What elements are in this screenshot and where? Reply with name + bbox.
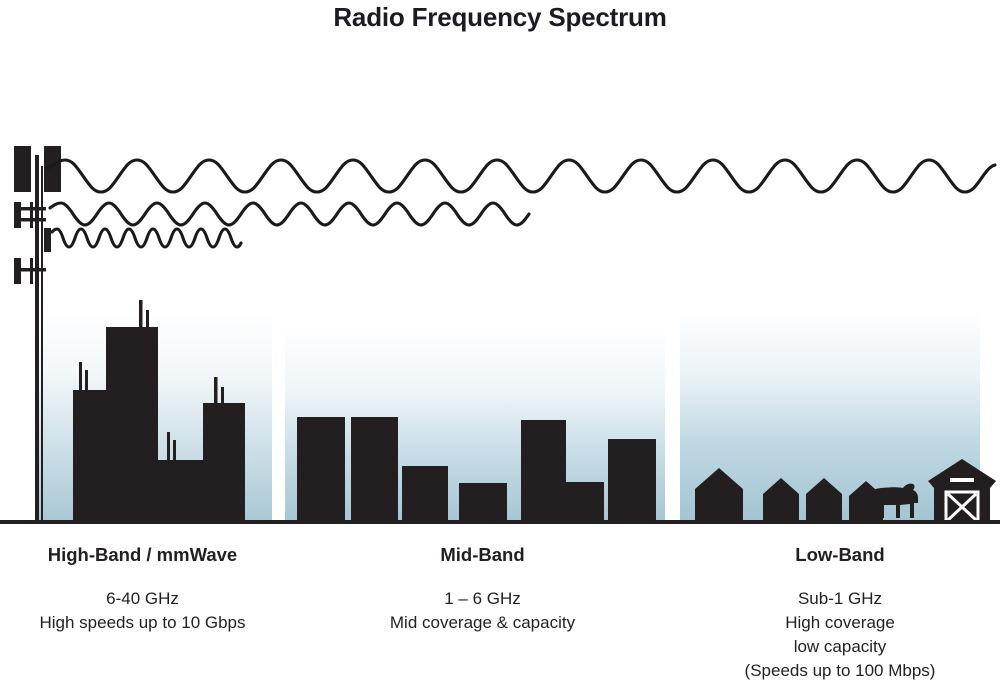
band-detail-high-band-frequency: 6-40 GHz (0, 587, 285, 611)
band-detail-low-band-frequency: Sub-1 GHz (680, 587, 1000, 611)
band-title-high-band: High-Band / mmWave (0, 546, 285, 565)
band-column-low-band: Low-Band Sub-1 GHz High coverage low cap… (680, 546, 1000, 683)
band-detail-high-band-speed: High speeds up to 10 Gbps (0, 611, 285, 635)
band-title-low-band: Low-Band (680, 546, 1000, 565)
band-column-high-band: High-Band / mmWave 6-40 GHz High speeds … (0, 546, 285, 635)
spectrum-scene (0, 0, 1000, 540)
band-detail-low-band-capacity: low capacity (680, 635, 1000, 659)
ground-line (0, 520, 1000, 524)
radio-wave-short-icon (52, 229, 241, 247)
radio-wave-long-icon (47, 160, 995, 192)
radio-wave-medium-icon (50, 203, 529, 225)
band-detail-mid-band-coverage: Mid coverage & capacity (285, 611, 680, 635)
band-detail-mid-band-frequency: 1 – 6 GHz (285, 587, 680, 611)
infographic-root: Radio Frequency Spectrum (0, 0, 1000, 700)
band-detail-low-band-speed: (Speeds up to 100 Mbps) (680, 659, 1000, 683)
barn-window (950, 478, 974, 482)
band-column-mid-band: Mid-Band 1 – 6 GHz Mid coverage & capaci… (285, 546, 680, 635)
band-title-mid-band: Mid-Band (285, 546, 680, 565)
band-labels: High-Band / mmWave 6-40 GHz High speeds … (0, 546, 1000, 700)
band-detail-low-band-coverage: High coverage (680, 611, 1000, 635)
